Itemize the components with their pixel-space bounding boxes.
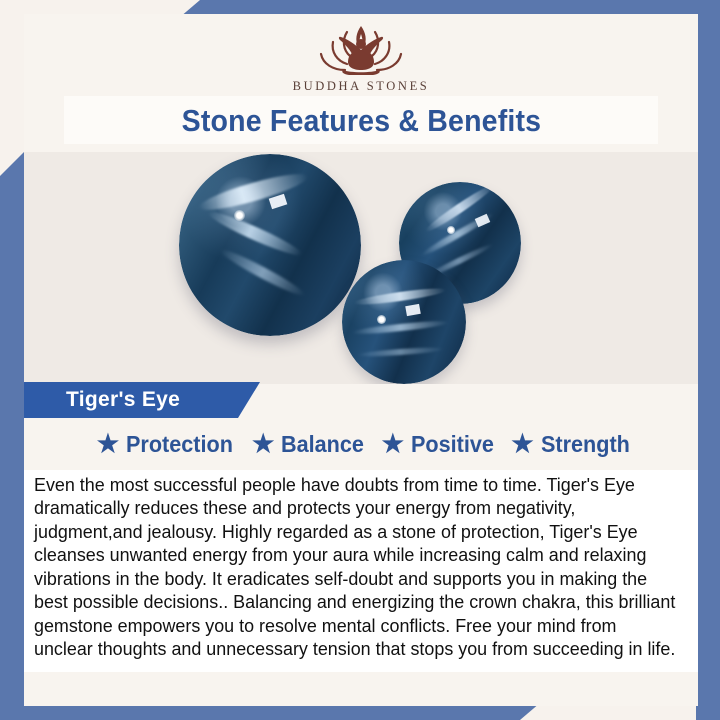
stone-name-banner: Tiger's Eye <box>24 382 260 418</box>
benefit-label: Strength <box>541 431 630 458</box>
benefit-item: ★ Balance <box>242 431 370 458</box>
infographic-poster: BUDDHA STONES Stone Features & Benefits <box>0 0 720 720</box>
benefit-label: Positive <box>411 431 494 458</box>
bead-large <box>179 154 361 336</box>
product-photo <box>24 152 698 384</box>
star-icon: ★ <box>252 432 274 457</box>
bead-small <box>342 260 466 384</box>
title-banner: Stone Features & Benefits <box>64 96 658 144</box>
star-icon: ★ <box>97 432 119 457</box>
description-block: Even the most successful people have dou… <box>24 470 698 672</box>
benefit-item: ★ Protection <box>87 431 240 458</box>
left-accent-bar <box>0 152 24 712</box>
benefit-label: Balance <box>281 431 364 458</box>
brand-logo: BUDDHA STONES <box>24 14 698 94</box>
page-title: Stone Features & Benefits <box>181 105 541 136</box>
star-icon: ★ <box>511 432 533 457</box>
star-icon: ★ <box>382 432 404 457</box>
lotus-meditation-figure-icon <box>295 20 427 78</box>
brand-name: BUDDHA STONES <box>293 79 430 94</box>
bead-large-specular-dot <box>234 210 245 221</box>
benefit-item: ★ Positive <box>372 431 500 458</box>
bead-small-specular-dot <box>377 315 386 324</box>
benefit-item: ★ Strength <box>501 431 635 458</box>
bead-small-specular-chip <box>406 303 422 315</box>
bead-right-specular-dot <box>447 226 455 234</box>
benefit-label: Protection <box>126 431 233 458</box>
benefits-list: ★ Protection ★ Balance ★ Positive ★ Stre… <box>24 424 698 464</box>
right-accent-bar <box>696 0 720 720</box>
description-text: Even the most successful people have dou… <box>34 474 676 662</box>
stone-name-row: Tiger's Eye <box>24 382 698 422</box>
stone-name-label: Tiger's Eye <box>66 388 180 412</box>
poster-sheet: BUDDHA STONES Stone Features & Benefits <box>24 14 698 706</box>
